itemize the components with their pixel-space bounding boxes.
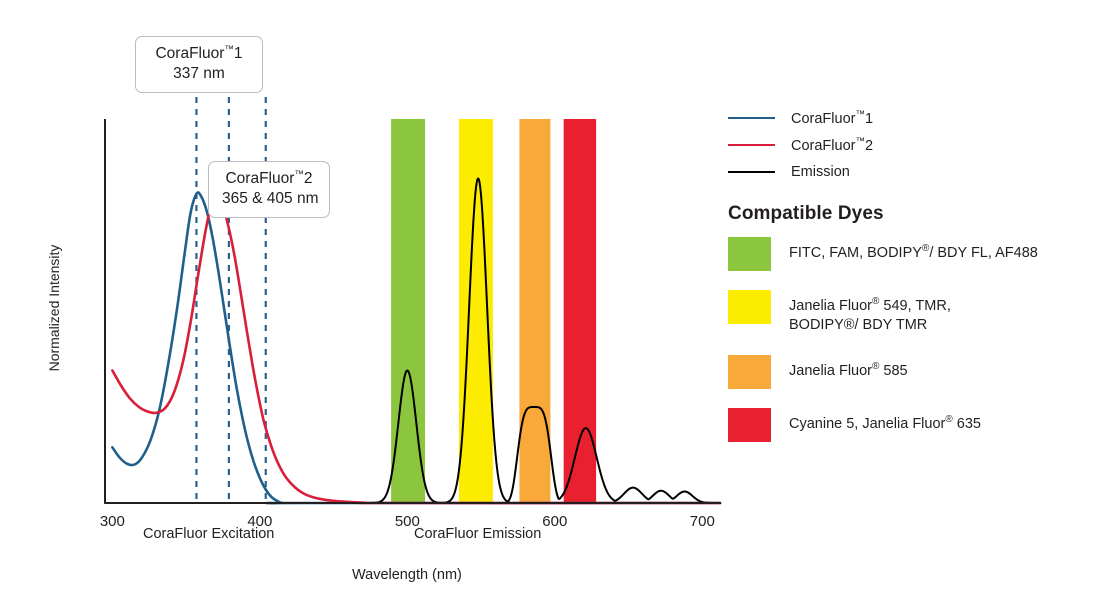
legend-dye-item: FITC, FAM, BODIPY®/ BDY FL, AF488 <box>728 237 1098 271</box>
excitation-markers-group <box>196 97 265 503</box>
callout-corafluor1-line1: CoraFluor™1 <box>149 44 249 64</box>
legend-dye-item: Janelia Fluor® 585 <box>728 355 1098 389</box>
legend-dye-swatch <box>728 290 771 324</box>
legend-dye-label: Cyanine 5, Janelia Fluor® 635 <box>789 408 981 434</box>
legend-dye-swatch <box>728 237 771 271</box>
legend-line-swatch <box>728 171 775 173</box>
dye-band <box>564 119 596 503</box>
legend-line-item: CoraFluor™2 <box>728 131 1098 158</box>
dye-bands-group <box>391 119 596 503</box>
compatible-dyes-title: Compatible Dyes <box>728 203 1098 225</box>
callout-corafluor1-line2: 337 nm <box>149 64 249 84</box>
plot-svg: 300400500600700 <box>0 0 740 612</box>
plot-area: 300400500600700 Normalized Intensity Cor… <box>0 0 740 612</box>
legend-dye-swatch <box>728 408 771 442</box>
legend-dye-item: Janelia Fluor® 549, TMR,BODIPY®/ BDY TMR <box>728 290 1098 336</box>
dye-band <box>519 119 550 503</box>
legend-dye-label: Janelia Fluor® 585 <box>789 355 908 381</box>
legend-line-swatch <box>728 117 775 119</box>
legend-dye-entries: FITC, FAM, BODIPY®/ BDY FL, AF488Janelia… <box>728 237 1098 442</box>
legend-line-swatch <box>728 144 775 146</box>
callout-corafluor2-line2: 365 & 405 nm <box>222 189 316 209</box>
x-tick-label: 300 <box>100 513 125 530</box>
spectra-figure: 300400500600700 Normalized Intensity Cor… <box>0 0 1110 612</box>
legend-dye-label: FITC, FAM, BODIPY®/ BDY FL, AF488 <box>789 237 1038 263</box>
legend-line-label: CoraFluor™1 <box>791 109 873 127</box>
callout-corafluor2: CoraFluor™2 365 & 405 nm <box>208 161 330 218</box>
x-tick-label: 600 <box>542 513 567 530</box>
legend-line-item: CoraFluor™1 <box>728 104 1098 131</box>
callout-corafluor2-line1: CoraFluor™2 <box>222 169 316 189</box>
emission-region-caption: CoraFluor Emission <box>414 526 541 542</box>
legend-line-label: CoraFluor™2 <box>791 136 873 154</box>
legend: CoraFluor™1CoraFluor™2Emission Compatibl… <box>728 104 1098 461</box>
legend-line-label: Emission <box>791 164 850 180</box>
legend-line-entries: CoraFluor™1CoraFluor™2Emission <box>728 104 1098 185</box>
x-axis-label: Wavelength (nm) <box>352 567 462 583</box>
callout-corafluor1: CoraFluor™1 337 nm <box>135 36 263 93</box>
legend-line-item: Emission <box>728 158 1098 185</box>
legend-dye-swatch <box>728 355 771 389</box>
excitation-region-caption: CoraFluor Excitation <box>143 526 274 542</box>
x-tick-label: 700 <box>690 513 715 530</box>
legend-dye-label: Janelia Fluor® 549, TMR,BODIPY®/ BDY TMR <box>789 290 951 336</box>
y-axis-label: Normalized Intensity <box>46 223 62 393</box>
legend-dye-item: Cyanine 5, Janelia Fluor® 635 <box>728 408 1098 442</box>
